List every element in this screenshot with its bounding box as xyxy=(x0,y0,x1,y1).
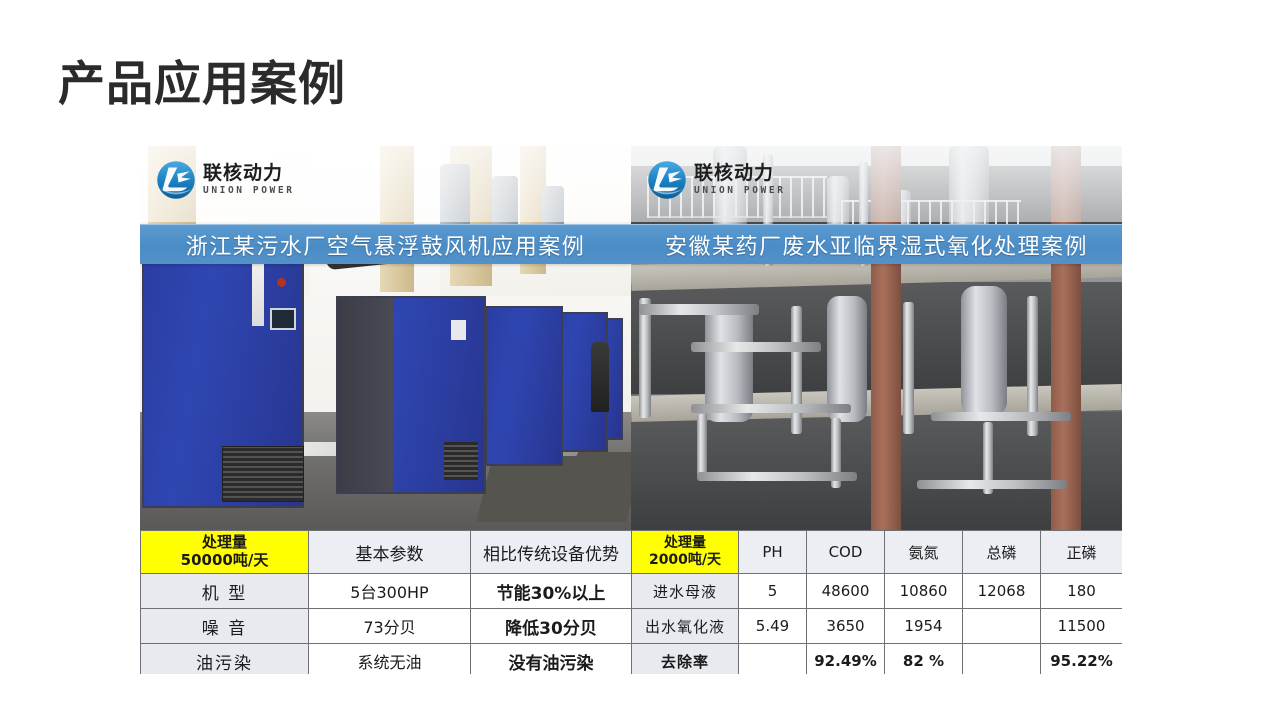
column-header-orthophosphate: 正磷 xyxy=(1041,531,1123,574)
column-header-total-phosphorus: 总磷 xyxy=(963,531,1041,574)
corner-line2: 50000吨/天 xyxy=(141,552,308,570)
spec-table-left: 处理量 50000吨/天 基本参数 相比传统设备优势 机 型 5台300HP 节… xyxy=(140,530,631,674)
brand-name-en: UNION POWER xyxy=(694,186,786,196)
row-value: 5.49 xyxy=(739,609,807,644)
table-header-row: 处理量 50000吨/天 基本参数 相比传统设备优势 xyxy=(141,531,632,574)
table-corner-cell: 处理量 2000吨/天 xyxy=(632,531,739,574)
row-value: 180 xyxy=(1041,574,1123,609)
slide-canvas: 产品应用案例 xyxy=(0,0,1280,720)
brand-logo-text: 联核动力 UNION POWER xyxy=(203,164,295,196)
row-label: 出水氧化液 xyxy=(632,609,739,644)
brand-name-cn: 联核动力 xyxy=(694,164,786,183)
table-row: 进水母液 5 48600 10860 12068 180 xyxy=(632,574,1123,609)
photo-pipe xyxy=(697,472,857,481)
row-value: 73分贝 xyxy=(309,609,471,644)
photo-pipe xyxy=(639,298,651,418)
row-value: 10860 xyxy=(885,574,963,609)
column-header-ph: PH xyxy=(739,531,807,574)
row-value: 12068 xyxy=(963,574,1041,609)
photo-reactor-vessel xyxy=(961,286,1007,416)
photo-blower-unit-front xyxy=(142,248,304,508)
photo-pipe xyxy=(691,404,851,413)
row-value: 11500 xyxy=(1041,609,1123,644)
photo-worker xyxy=(591,342,609,412)
photo-pipe xyxy=(903,302,914,434)
union-power-swoosh-logo-icon xyxy=(156,160,196,200)
union-power-swoosh-logo-icon xyxy=(647,160,687,200)
logo-overlay-bar: 联核动力 UNION POWER xyxy=(140,146,631,222)
photo-blower-unit xyxy=(485,306,563,466)
column-header-cod: COD xyxy=(807,531,885,574)
brand-logo-text: 联核动力 UNION POWER xyxy=(694,164,786,196)
case-banner-right: 安徽某药厂废水亚临界湿式氧化处理案例 xyxy=(631,224,1122,264)
case-banner-left: 浙江某污水厂空气悬浮鼓风机应用案例 xyxy=(140,224,631,264)
case-panel-right: 联核动力 UNION POWER 安徽某药厂废水亚临界湿式氧化处理案例 处理量 … xyxy=(631,146,1122,674)
table-row: 噪 音 73分贝 降低30分贝 xyxy=(141,609,632,644)
row-label: 进水母液 xyxy=(632,574,739,609)
table-header-row: 处理量 2000吨/天 PH COD 氨氮 总磷 正磷 xyxy=(632,531,1123,574)
photo-pipe xyxy=(791,306,802,434)
blower-hmi-screen xyxy=(270,308,296,330)
photo-pipe xyxy=(931,412,1071,421)
column-header-basic-params: 基本参数 xyxy=(309,531,471,574)
spec-table-right: 处理量 2000吨/天 PH COD 氨氮 总磷 正磷 进水母液 5 48600… xyxy=(631,530,1122,674)
row-label: 噪 音 xyxy=(141,609,309,644)
row-advantage: 降低30分贝 xyxy=(471,609,632,644)
table-corner-cell: 处理量 50000吨/天 xyxy=(141,531,309,574)
case-banner-left-text: 浙江某污水厂空气悬浮鼓风机应用案例 xyxy=(186,229,586,261)
column-header-ammonia-nitrogen: 氨氮 xyxy=(885,531,963,574)
row-removal-rate: 92.49% xyxy=(807,644,885,675)
brand-logo: 联核动力 UNION POWER xyxy=(156,160,295,200)
photo-blower-unit xyxy=(336,296,486,494)
corner-line2: 2000吨/天 xyxy=(632,552,738,569)
row-removal-rate: 95.22% xyxy=(1041,644,1123,675)
photo-pipe xyxy=(697,414,707,480)
blower-label-sticker xyxy=(252,258,264,326)
row-advantage: 节能30%以上 xyxy=(471,574,632,609)
case-panel-left: 联核动力 UNION POWER 浙江某污水厂空气悬浮鼓风机应用案例 处理量 5… xyxy=(140,146,631,674)
corner-line1: 处理量 xyxy=(632,535,738,552)
row-value: 5台300HP xyxy=(309,574,471,609)
row-advantage: 没有油污染 xyxy=(471,644,632,675)
case-photo-right: 联核动力 UNION POWER 安徽某药厂废水亚临界湿式氧化处理案例 xyxy=(631,146,1122,530)
row-removal-rate: 82 % xyxy=(885,644,963,675)
blower-emergency-stop xyxy=(277,278,286,287)
photo-pipe xyxy=(917,480,1067,489)
row-label: 机 型 xyxy=(141,574,309,609)
table-row: 油污染 系统无油 没有油污染 xyxy=(141,644,632,675)
corner-line1: 处理量 xyxy=(141,534,308,552)
row-label: 去除率 xyxy=(632,644,739,675)
blower-vent-grille xyxy=(222,446,304,502)
table-row: 机 型 5台300HP 节能30%以上 xyxy=(141,574,632,609)
row-value: 3650 xyxy=(807,609,885,644)
case-photo-left: 联核动力 UNION POWER 浙江某污水厂空气悬浮鼓风机应用案例 xyxy=(140,146,631,530)
row-value xyxy=(963,644,1041,675)
photo-pipe xyxy=(639,304,759,315)
row-value: 1954 xyxy=(885,609,963,644)
blower-side-panel xyxy=(337,298,393,492)
case-banner-right-text: 安徽某药厂废水亚临界湿式氧化处理案例 xyxy=(665,229,1088,261)
row-value xyxy=(739,644,807,675)
photo-pipe xyxy=(691,342,821,352)
row-value: 48600 xyxy=(807,574,885,609)
page-title: 产品应用案例 xyxy=(58,58,346,112)
blower-control-box xyxy=(451,320,466,340)
column-header-advantage: 相比传统设备优势 xyxy=(471,531,632,574)
table-row: 去除率 92.49% 82 % 95.22% xyxy=(632,644,1123,675)
row-value xyxy=(963,609,1041,644)
brand-logo: 联核动力 UNION POWER xyxy=(647,160,786,200)
brand-name-cn: 联核动力 xyxy=(203,164,295,183)
row-value: 系统无油 xyxy=(309,644,471,675)
logo-overlay-bar: 联核动力 UNION POWER xyxy=(631,146,1122,222)
blower-vent-grille xyxy=(444,442,478,480)
row-value: 5 xyxy=(739,574,807,609)
brand-name-en: UNION POWER xyxy=(203,186,295,196)
table-row: 出水氧化液 5.49 3650 1954 11500 xyxy=(632,609,1123,644)
row-label: 油污染 xyxy=(141,644,309,675)
